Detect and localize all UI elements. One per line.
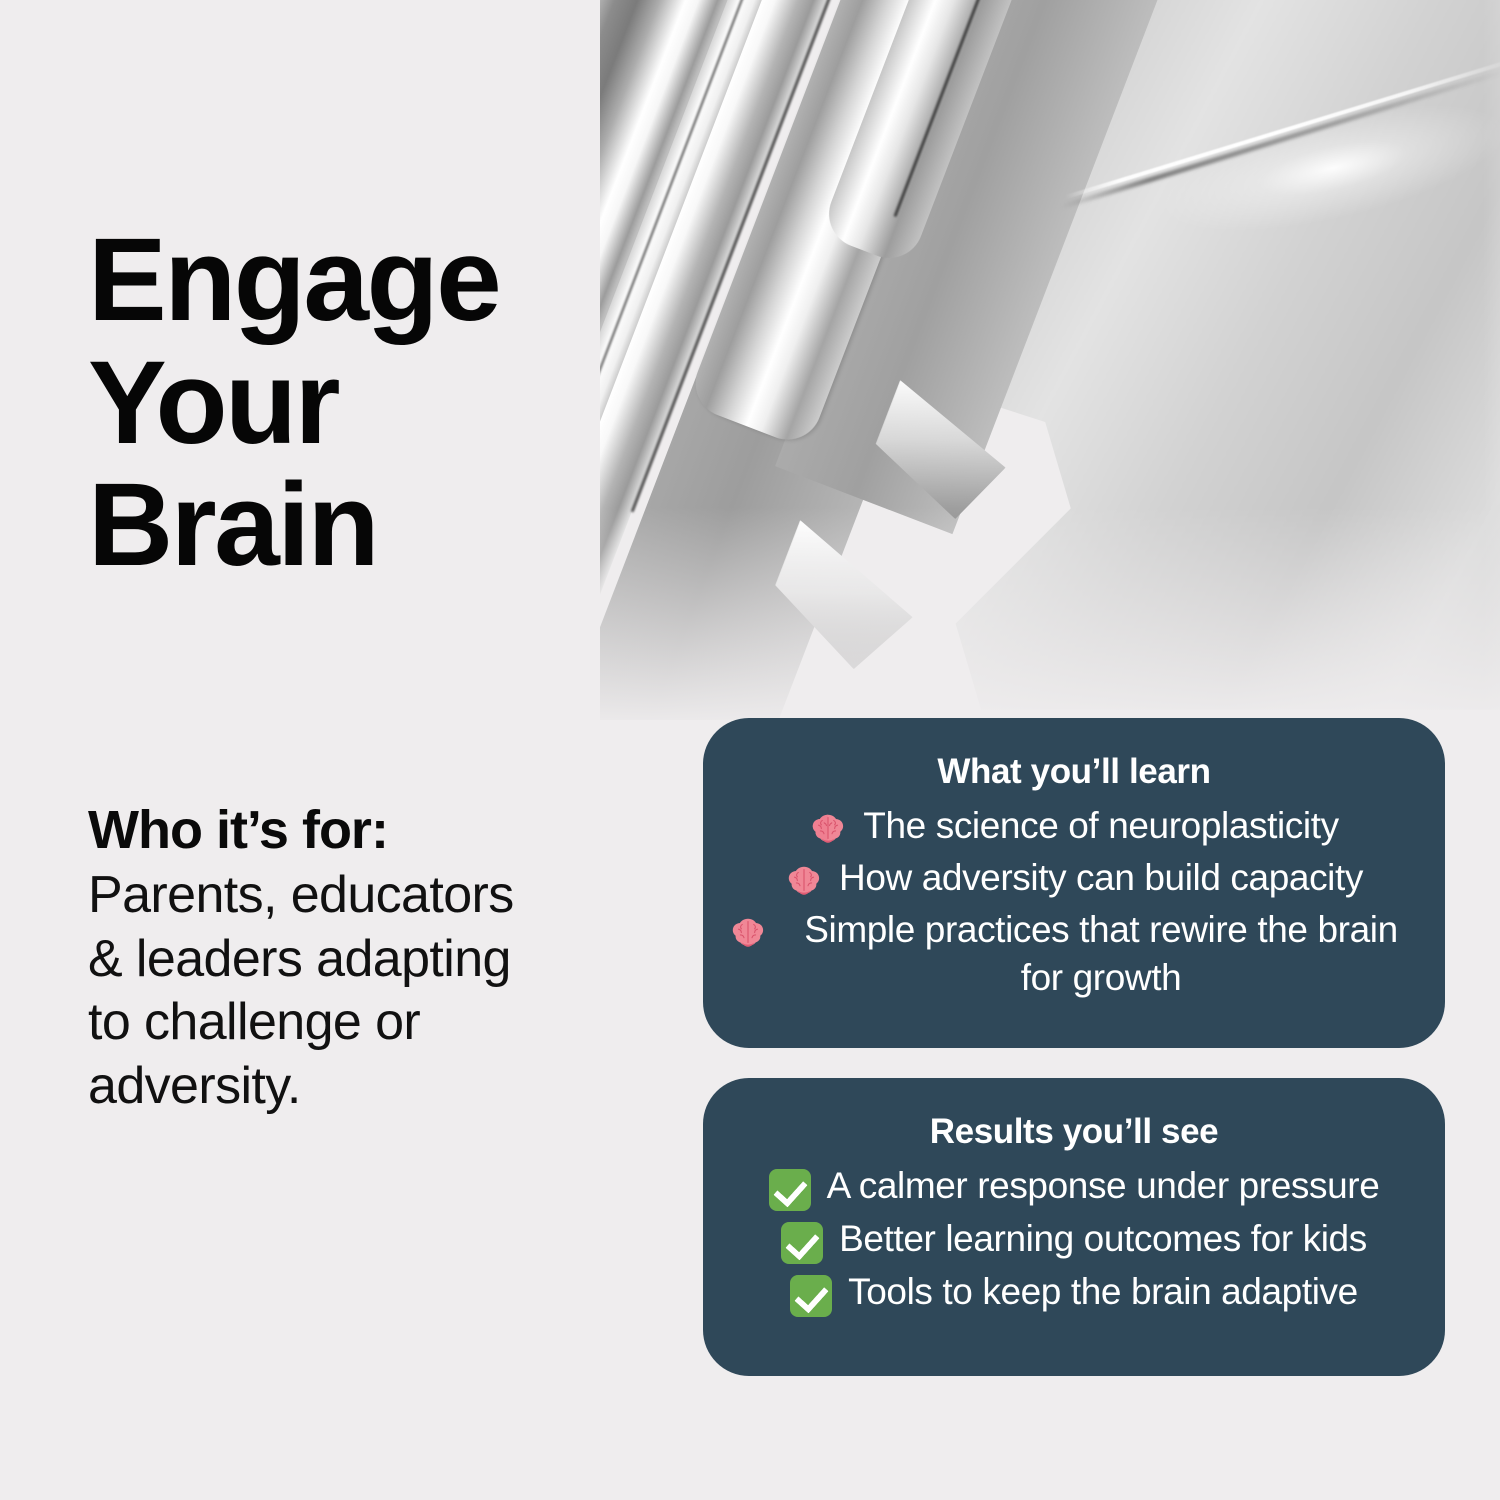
- list-item: Tools to keep the brain adaptive: [729, 1266, 1419, 1319]
- chrome-ribbon-3: [600, 0, 958, 708]
- check-icon: [769, 1169, 811, 1211]
- learn-list: The science of neuroplasticity How adver…: [729, 800, 1419, 1004]
- list-item: How adversity can build capacity: [729, 852, 1419, 904]
- check-icon: [781, 1222, 823, 1264]
- check-icon: [790, 1275, 832, 1317]
- results-list: A calmer response under pressure Better …: [729, 1160, 1419, 1319]
- chrome-panel-mid: [600, 0, 1149, 720]
- card-results-youll-see: Results you’ll see A calmer response und…: [703, 1078, 1445, 1376]
- chrome-notch-highlight: [1042, 0, 1500, 349]
- poster-canvas: Engage Your Brain Who it’s for: Parents,…: [0, 0, 1500, 1500]
- chrome-ribbon-5: [819, 0, 1159, 268]
- chrome-edge-shadow-1: [631, 0, 949, 513]
- list-item-label: Tools to keep the brain adaptive: [848, 1268, 1358, 1316]
- chrome-notch-specular: [1065, 55, 1500, 199]
- chrome-fold-tail-1: [861, 380, 1022, 529]
- card-title: Results you’ll see: [729, 1112, 1419, 1152]
- card-title: What you’ll learn: [729, 752, 1419, 792]
- who-its-for-title: Who it’s for:: [88, 800, 688, 860]
- chrome-edge-shadow-3: [893, 0, 1132, 217]
- chrome-ribbon-4: [686, 0, 1116, 449]
- card-what-youll-learn: What you’ll learn: [703, 718, 1445, 1048]
- chrome-edge-fade: [600, 0, 1500, 720]
- chrome-metallic-artwork: [600, 0, 1500, 720]
- page-title: Engage Your Brain: [88, 219, 648, 587]
- list-item-label: Simple practices that rewire the brain f…: [783, 906, 1419, 1002]
- brain-icon: [809, 810, 847, 848]
- chrome-ribbon-2: [600, 0, 936, 720]
- chrome-panel-mid-2: [775, 0, 1275, 534]
- list-item-label: How adversity can build capacity: [839, 854, 1363, 902]
- brain-icon: [729, 914, 767, 952]
- chrome-notch-shadow: [1060, 67, 1500, 209]
- list-item: The science of neuroplasticity: [729, 800, 1419, 852]
- who-its-for-block: Who it’s for: Parents, educators & leade…: [88, 800, 688, 1118]
- list-item: Simple practices that rewire the brain f…: [729, 904, 1419, 1004]
- brain-icon: [785, 862, 823, 900]
- chrome-fold-tail-2: [757, 520, 931, 682]
- list-item-label: Better learning outcomes for kids: [839, 1215, 1367, 1263]
- who-its-for-body: Parents, educators & leaders adapting to…: [88, 864, 688, 1118]
- list-item-label: The science of neuroplasticity: [863, 802, 1338, 850]
- list-item-label: A calmer response under pressure: [827, 1162, 1380, 1210]
- list-item: Better learning outcomes for kids: [729, 1213, 1419, 1266]
- chrome-plate: [930, 0, 1500, 710]
- list-item: A calmer response under pressure: [729, 1160, 1419, 1213]
